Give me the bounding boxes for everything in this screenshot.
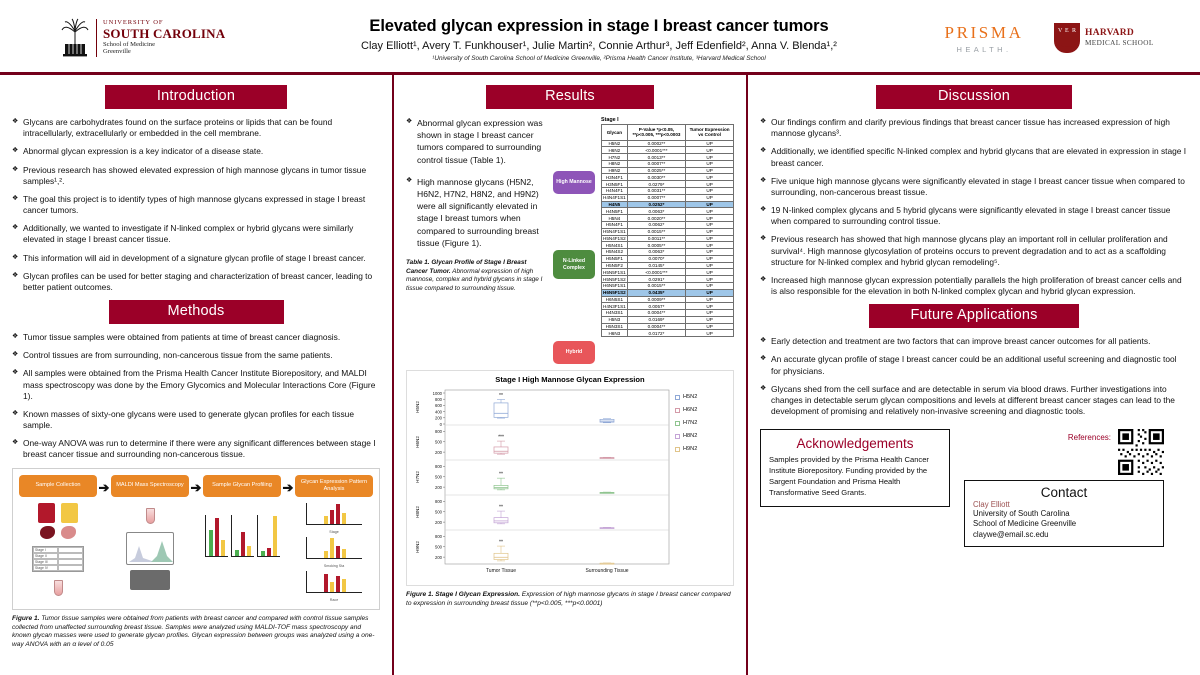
bar	[241, 532, 245, 556]
legend-swatch	[675, 447, 680, 452]
group-tag-n-linked-complex: N-Linked Complex	[553, 250, 595, 280]
y-axis-label: H9N2	[415, 541, 420, 553]
tumor-tissue-icon	[40, 526, 55, 539]
analysis-chart-label: Stage	[329, 530, 338, 534]
column-right: Discussion Our findings confirm and clar…	[748, 75, 1200, 675]
tumor-card-icon	[38, 503, 55, 523]
cell-expression: UP	[686, 255, 734, 262]
spectrum-monitor-icon	[126, 532, 174, 565]
list-item: The goal this project is to identify typ…	[12, 194, 380, 216]
legend-item: H9N2	[675, 446, 729, 452]
cell-glycan: H5N3	[602, 316, 628, 323]
y-axis-label: H6N2	[415, 436, 420, 448]
table-row: H5N5F10.0070*UP	[602, 255, 734, 262]
boxplot-tumor-H8N2	[494, 511, 508, 524]
table-row: H5N4F1S10.0015**UP	[602, 228, 734, 235]
list-item: Glycans are carbohydrates found on the s…	[12, 117, 380, 139]
glycan-group-tags: High Mannose N-Linked Complex Hybrid	[553, 117, 595, 364]
profile-chart	[205, 515, 228, 557]
table-row: H5N30.0169*UP	[602, 316, 734, 323]
cell-expression: UP	[686, 147, 734, 154]
chart-title: Stage I High Mannose Glycan Expression	[411, 375, 729, 384]
bar	[324, 574, 328, 592]
bottom-row: Acknowledgements Samples provided by the…	[760, 429, 1188, 546]
boxplot-svg: 02004006008001000H5N2**200500800H6N2***2…	[411, 386, 673, 578]
list-item: Known masses of sixty-one glycans were u…	[12, 409, 380, 431]
y-tick-label: 200	[435, 520, 443, 525]
boxplot-tumor-H6N2	[494, 441, 508, 454]
cell-expression: UP	[686, 235, 734, 242]
svg-text:R: R	[1072, 28, 1076, 34]
references-row: References:	[964, 429, 1164, 475]
table-header: Glycan P-Value *p<0.05, **p<0.005, ***p<…	[602, 125, 734, 141]
x-tick-label: Tumor Tissue	[486, 568, 516, 574]
cell-expression: UP	[686, 323, 734, 330]
y-tick-label: 500	[435, 475, 443, 480]
list-item: Increased high mannose glycan expression…	[760, 275, 1188, 297]
cell-glycan: H5N5F1	[602, 255, 628, 262]
legend-item: H8N2	[675, 433, 729, 439]
harvard-shield-icon: VER	[1054, 23, 1080, 53]
analysis-chart-race	[306, 571, 362, 593]
sample-cards	[38, 503, 78, 523]
cell-glycan: H5N4F1	[602, 221, 628, 228]
y-tick-label: 1000	[433, 391, 443, 396]
usc-logo: UNIVERSITY OF SOUTH CAROLINA School of M…	[14, 18, 284, 58]
usc-logo-text: UNIVERSITY OF SOUTH CAROLINA School of M…	[103, 20, 225, 55]
group-tag-hybrid: Hybrid	[553, 341, 595, 364]
cell-pvalue: 0.0062*	[627, 221, 685, 228]
mass-spectrum-icon	[129, 538, 173, 562]
cell-pvalue: 0.0252*	[627, 201, 685, 208]
bar	[247, 546, 251, 556]
figure-1-caption: Figure 1. Tumor tissue samples were obta…	[12, 615, 380, 651]
cell-glycan: H6N5F1S1	[602, 282, 628, 289]
cell-expression: UP	[686, 208, 734, 215]
cell-pvalue: 0.0435*	[627, 289, 685, 296]
bar	[324, 516, 328, 524]
y-tick-label: 400	[435, 409, 443, 414]
sample-tube-icon	[146, 508, 155, 524]
cell-expression: UP	[686, 330, 734, 337]
cell-pvalue: 0.0172*	[627, 330, 685, 337]
y-axis-label: H5N2	[415, 401, 420, 413]
list-item: One-way ANOVA was run to determine if th…	[12, 438, 380, 460]
cell-expression: UP	[686, 316, 734, 323]
chart-plot-area: 02004006008001000H5N2**200500800H6N2***2…	[411, 386, 675, 583]
list-item: Five unique high mannose glycans were si…	[760, 176, 1188, 198]
chart-legend: H5N2H6N2H7N2H8N2H9N2	[675, 386, 729, 583]
figure-1-caption-text: Tumor tissue samples were obtained from …	[12, 615, 375, 649]
arrow-icon: ➔	[283, 480, 294, 496]
prisma-subtext: HEALTH.	[914, 45, 1054, 54]
references-contact-area: References:	[964, 429, 1164, 546]
column-header-glycan: Glycan	[602, 125, 628, 141]
bar	[273, 516, 277, 556]
cell-expression: UP	[686, 167, 734, 174]
instrument-icon	[130, 570, 170, 590]
boxplot-surrounding-H5N2	[600, 419, 614, 423]
cell-expression: UP	[686, 194, 734, 201]
cell-expression: UP	[686, 215, 734, 222]
svg-text:V: V	[1058, 28, 1063, 34]
contact-box: Contact Clay Elliott University of South…	[964, 480, 1164, 546]
cell-glycan: H4N5	[602, 201, 628, 208]
cell-expression: UP	[686, 242, 734, 249]
cell-glycan: H5N4	[602, 215, 628, 222]
legend-swatch	[675, 434, 680, 439]
legend-item: H5N2	[675, 394, 729, 400]
column-header-pvalue: P-Value *p<0.05, **p<0.005, ***p<0.0003	[627, 125, 685, 141]
usc-line-2: SOUTH CAROLINA	[103, 27, 225, 41]
cell-pvalue: <0.0001***	[627, 269, 685, 276]
boxplot-tumor-H5N2	[494, 400, 508, 419]
legend-item: H7N2	[675, 420, 729, 426]
cell-pvalue: 0.0007**	[627, 160, 685, 167]
table-row: H5N5F1S1<0.0001***UP	[602, 269, 734, 276]
bar	[342, 513, 346, 524]
methods-bullets: Tumor tissue samples were obtained from …	[12, 332, 380, 461]
cell-pvalue: 0.0063*	[627, 249, 685, 256]
list-item: This information will aid in development…	[12, 253, 380, 264]
poster-root: UNIVERSITY OF SOUTH CAROLINA School of M…	[0, 0, 1200, 675]
box	[494, 403, 508, 417]
cell-glycan: H5N5F2	[602, 262, 628, 269]
list-item: Our findings confirm and clarify previou…	[760, 117, 1188, 139]
table-row: H5N20.0002**UP	[602, 140, 734, 147]
list-item: Abnormal glycan expression was shown in …	[406, 117, 547, 166]
bar	[336, 546, 340, 558]
cell-pvalue: 0.0013**	[627, 154, 685, 161]
legend-swatch	[675, 421, 680, 426]
table-row: H5N5F20.0145*UP	[602, 262, 734, 269]
cell-glycan: H4N3F1S1	[602, 303, 628, 310]
contact-affiliation-2: School of Medicine Greenville	[973, 519, 1155, 529]
column-middle: Results Abnormal glycan expression was s…	[392, 75, 748, 675]
table-row: H7N20.0013**UP	[602, 154, 734, 161]
legend-swatch	[675, 395, 680, 400]
cell-pvalue: <0.0001***	[627, 147, 685, 154]
boxplot-surrounding-H6N2	[600, 457, 614, 458]
arrow-icon: ➔	[191, 480, 202, 496]
cell-pvalue: 0.0015**	[627, 282, 685, 289]
legend-label: H5N2	[683, 394, 697, 400]
group-tag-high-mannose: High Mannose	[553, 171, 595, 194]
cell-expression: UP	[686, 201, 734, 208]
cell-glycan: H5N3S1	[602, 323, 628, 330]
cell-expression: UP	[686, 228, 734, 235]
table-row: H5N4S20.0063*UP	[602, 249, 734, 256]
bar	[336, 576, 340, 592]
table-row: H3N5F10.0279*UP	[602, 181, 734, 188]
workflow-step-maldi: MALDI Mass Spectroscopy	[111, 475, 189, 590]
analysis-chart-smoking	[306, 537, 362, 559]
sample-tube-icon	[54, 580, 63, 596]
legend-label: H7N2	[683, 420, 697, 426]
legend-label: H9N2	[683, 446, 697, 452]
cell-glycan: H5N4F1S1	[602, 228, 628, 235]
harvard-line-1: HARVARD	[1085, 28, 1154, 39]
y-axis-label: H7N2	[415, 471, 420, 483]
cell-glycan: H7N2	[602, 154, 628, 161]
palmetto-tree-icon	[60, 18, 90, 58]
table-row: H4N4F1S10.0007**UP	[602, 194, 734, 201]
qr-code-icon[interactable]	[1118, 429, 1164, 475]
cell-glycan: H6N3	[602, 330, 628, 337]
y-tick-label: 800	[435, 499, 443, 504]
acknowledgements-text: Samples provided by the Prisma Health Ca…	[769, 455, 941, 498]
table-1-caption: Table 1. Glycan Profile of Stage I Breas…	[406, 259, 547, 294]
y-tick-label: 800	[435, 464, 443, 469]
maldi-graphic	[111, 503, 189, 590]
cell-pvalue: 0.0279*	[627, 181, 685, 188]
cell-expression: UP	[686, 296, 734, 303]
cell-pvalue: 0.0030**	[627, 174, 685, 181]
x-tick-label: Surrounding Tissue	[585, 568, 628, 574]
list-item: Early detection and treatment are two fa…	[760, 336, 1188, 347]
cell-glycan: H4N5F1	[602, 208, 628, 215]
table-body: H5N20.0002**UPH6N2<0.0001***UPH7N20.0013…	[602, 140, 734, 337]
table-cell: Stage IV	[33, 565, 58, 571]
cell-pvalue: 0.0007**	[627, 194, 685, 201]
figure-2-caption-label: Figure 1. Stage I Glycan Expression.	[406, 591, 520, 598]
cell-pvalue: 0.0063*	[627, 208, 685, 215]
bar	[330, 538, 334, 558]
table-row: H3N4F10.0030**UP	[602, 174, 734, 181]
y-tick-label: 500	[435, 440, 443, 445]
section-banner-methods: Methods	[109, 300, 284, 324]
table-row: H6N5S10.0009**UP	[602, 296, 734, 303]
figure-2-chart: Stage I High Mannose Glycan Expression 0…	[406, 370, 734, 586]
cell-expression: UP	[686, 181, 734, 188]
box	[494, 447, 508, 453]
list-item: 19 N-linked complex glycans and 5 hybrid…	[760, 205, 1188, 227]
table-header-row: Glycan P-Value *p<0.05, **p<0.005, ***p<…	[602, 125, 734, 141]
table-stage-label: Stage I	[601, 117, 734, 123]
y-tick-label: 200	[435, 485, 443, 490]
future-applications-bullets: Early detection and treatment are two fa…	[760, 336, 1188, 417]
y-tick-label: 200	[435, 416, 443, 421]
cell-glycan: H5N2	[602, 140, 628, 147]
pattern-analysis-graphic: Stage Smoking Sta	[295, 503, 373, 602]
normal-tissue-icon	[61, 526, 76, 539]
cell-glycan: H5N4S1	[602, 242, 628, 249]
bar	[235, 550, 239, 556]
cell-expression: UP	[686, 289, 734, 296]
table-row: H5N3S10.0004**UP	[602, 323, 734, 330]
glycan-profile-table: Glycan P-Value *p<0.05, **p<0.005, ***p<…	[601, 124, 734, 337]
cell-expression: UP	[686, 221, 734, 228]
cell-glycan: H3N4F1	[602, 174, 628, 181]
box	[494, 553, 508, 559]
cell-pvalue: 0.0145*	[627, 262, 685, 269]
title-block: Elevated glycan expression in stage I br…	[284, 15, 914, 62]
list-item: An accurate glycan profile of stage I br…	[760, 354, 1188, 376]
analysis-chart-label: Smoking Sta	[324, 564, 344, 568]
section-banner-results: Results	[486, 85, 654, 109]
cell-glycan: H5N5F1S1	[602, 269, 628, 276]
cell-glycan: H9N2	[602, 167, 628, 174]
y-tick-label: 500	[435, 545, 443, 550]
boxplot-surrounding-H7N2	[600, 492, 614, 493]
list-item: All samples were obtained from the Prism…	[12, 368, 380, 402]
table-row: H4N3S10.0004**UP	[602, 310, 734, 317]
cell-pvalue: 0.0004**	[627, 310, 685, 317]
table-row: H5N4F10.0062*UP	[602, 221, 734, 228]
y-tick-label: 200	[435, 555, 443, 560]
legend-label: H8N2	[683, 433, 697, 439]
column-left: Introduction Glycans are carbohydrates f…	[0, 75, 392, 675]
cell-glycan: H6N5S1	[602, 296, 628, 303]
contact-name: Clay Elliott	[973, 500, 1155, 509]
cell-pvalue: 0.0169*	[627, 316, 685, 323]
results-text: Abnormal glycan expression was shown in …	[406, 117, 547, 364]
cell-expression: UP	[686, 303, 734, 310]
bar	[336, 504, 340, 524]
table-row: H4N5F10.0063*UP	[602, 208, 734, 215]
author-list: Clay Elliott¹, Avery T. Funkhouser¹, Jul…	[284, 40, 914, 52]
contact-title: Contact	[973, 485, 1155, 500]
cell-expression: UP	[686, 160, 734, 167]
figure-2-caption: Figure 1. Stage I Glycan Expression. Exp…	[406, 591, 734, 609]
bar	[209, 530, 213, 556]
cell-expression: UP	[686, 310, 734, 317]
cell-pvalue: 0.0020**	[627, 215, 685, 222]
chart-body: 02004006008001000H5N2**200500800H6N2***2…	[411, 386, 729, 583]
cell-expression: UP	[686, 262, 734, 269]
cell-pvalue: 0.0004**	[627, 323, 685, 330]
results-content: Abnormal glycan expression was shown in …	[406, 117, 734, 364]
contact-email[interactable]: claywe@email.sc.edu	[973, 530, 1155, 540]
svg-text:E: E	[1065, 28, 1069, 34]
table-cell	[58, 565, 83, 571]
figure-1-caption-label: Figure 1.	[12, 615, 39, 622]
cell-expression: UP	[686, 140, 734, 147]
workflow-step-label: Glycan Expression Pattern Analysis	[295, 475, 373, 497]
bar	[342, 549, 346, 558]
harvard-logo: VER HARVARD MEDICAL SCHOOL	[1054, 23, 1186, 53]
y-tick-label: 600	[435, 403, 443, 408]
y-tick-label: 800	[435, 534, 443, 539]
introduction-bullets: Glycans are carbohydrates found on the s…	[12, 117, 380, 293]
tissue-blobs	[40, 526, 76, 539]
table-row: H4N4F10.0031**UP	[602, 188, 734, 195]
table-row: H5N40.0020**UP	[602, 215, 734, 222]
acknowledgements-title: Acknowledgements	[769, 436, 941, 451]
contact-affiliation-1: University of South Carolina	[973, 509, 1155, 519]
list-item: Previous research has showed that high m…	[760, 234, 1188, 268]
list-item: Glycan profiles can be used for better s…	[12, 271, 380, 293]
cell-expression: UP	[686, 249, 734, 256]
references-label: References:	[1068, 429, 1111, 442]
boxplot-surrounding-H9N2	[600, 563, 614, 564]
cell-pvalue: 0.0009**	[627, 296, 685, 303]
affiliation-list: ¹University of South Carolina School of …	[284, 55, 914, 62]
analysis-chart-label: Race	[330, 598, 338, 602]
significance-marker: **	[499, 505, 503, 511]
significance-marker: **	[499, 472, 503, 478]
legend-label: H6N2	[683, 407, 697, 413]
workflow-step-profiling: Sample Glycan Profiling	[203, 475, 281, 557]
list-item: Control tissues are from surrounding, no…	[12, 350, 380, 361]
y-axis-label: H8N2	[415, 506, 420, 518]
poster-header: UNIVERSITY OF SOUTH CAROLINA School of M…	[0, 0, 1200, 72]
table-row: H6N30.0172*UP	[602, 330, 734, 337]
cell-glycan: H4N3S1	[602, 310, 628, 317]
cell-glycan: H4N4F1S1	[602, 194, 628, 201]
poster-title: Elevated glycan expression in stage I br…	[284, 17, 914, 36]
cell-pvalue: 0.0057*	[627, 303, 685, 310]
cell-expression: UP	[686, 174, 734, 181]
cell-pvalue: 0.0291*	[627, 276, 685, 283]
cell-glycan: H4N4F1	[602, 188, 628, 195]
bar	[261, 551, 265, 556]
y-tick-label: 800	[435, 429, 443, 434]
workflow-diagram: Sample Collection Stage I	[19, 475, 373, 602]
legend-swatch	[675, 408, 680, 413]
boxplot-surrounding-H8N2	[600, 527, 614, 528]
list-item: High mannose glycans (H5N2, H6N2, H7N2, …	[406, 176, 547, 249]
bar	[215, 518, 219, 556]
table-row: H6N5F1S10.0015**UP	[602, 282, 734, 289]
control-card-icon	[61, 503, 78, 523]
section-banner-future-applications: Future Applications	[869, 304, 1079, 328]
list-item: Abnormal glycan expression is a key indi…	[12, 146, 380, 157]
arrow-icon: ➔	[99, 480, 110, 496]
significance-marker: ***	[498, 435, 504, 441]
bar	[324, 551, 328, 558]
results-bullets: Abnormal glycan expression was shown in …	[406, 117, 547, 249]
boxplot-tumor-H7N2	[494, 478, 508, 490]
significance-marker: **	[499, 393, 503, 399]
section-banner-introduction: Introduction	[105, 85, 287, 109]
column-header-expression: Tumor Expression vs Control	[686, 125, 734, 141]
workflow-step-label: Sample Glycan Profiling	[203, 475, 281, 497]
logo-divider	[96, 19, 97, 57]
usc-line-4: Greenville	[103, 49, 225, 56]
bar	[267, 548, 271, 556]
section-banner-discussion: Discussion	[876, 85, 1072, 109]
workflow-step-pattern-analysis: Glycan Expression Pattern Analysis Stage	[295, 475, 373, 602]
table-row: H6N2<0.0001***UP	[602, 147, 734, 154]
bar	[221, 540, 225, 556]
bar	[330, 582, 334, 592]
cell-pvalue: 0.0070*	[627, 255, 685, 262]
sample-collection-graphic: Stage I Stage II Stage III Stage IV	[19, 503, 97, 596]
harvard-logo-text: HARVARD MEDICAL SCHOOL	[1085, 28, 1154, 47]
y-tick-label: 500	[435, 510, 443, 515]
cell-pvalue: 0.0011**	[627, 235, 685, 242]
workflow-step-label: MALDI Mass Spectroscopy	[111, 475, 189, 497]
cell-glycan: H6N5F1S2	[602, 289, 628, 296]
table-row: H5N5F1S20.0291*UP	[602, 276, 734, 283]
stage-mini-table: Stage I Stage II Stage III Stage IV	[32, 546, 84, 572]
cell-pvalue: 0.0025**	[627, 167, 685, 174]
list-item: Additionally, we identified specific N-l…	[760, 146, 1188, 168]
box	[494, 518, 508, 523]
cell-glycan: H6N2	[602, 147, 628, 154]
profile-chart	[231, 515, 254, 557]
cell-expression: UP	[686, 276, 734, 283]
cell-pvalue: 0.0015**	[627, 228, 685, 235]
y-tick-label: 800	[435, 397, 443, 402]
table-row: H4N50.0252*UP	[602, 201, 734, 208]
glycan-table-wrapper: Stage I Glycan P-Value *p<0.05, **p<0.00…	[601, 117, 734, 364]
significance-marker: **	[499, 540, 503, 546]
boxplot-tumor-H9N2	[494, 546, 508, 561]
cell-glycan: H5N4F1S2	[602, 235, 628, 242]
list-item: Glycans shed from the cell surface and a…	[760, 384, 1188, 418]
